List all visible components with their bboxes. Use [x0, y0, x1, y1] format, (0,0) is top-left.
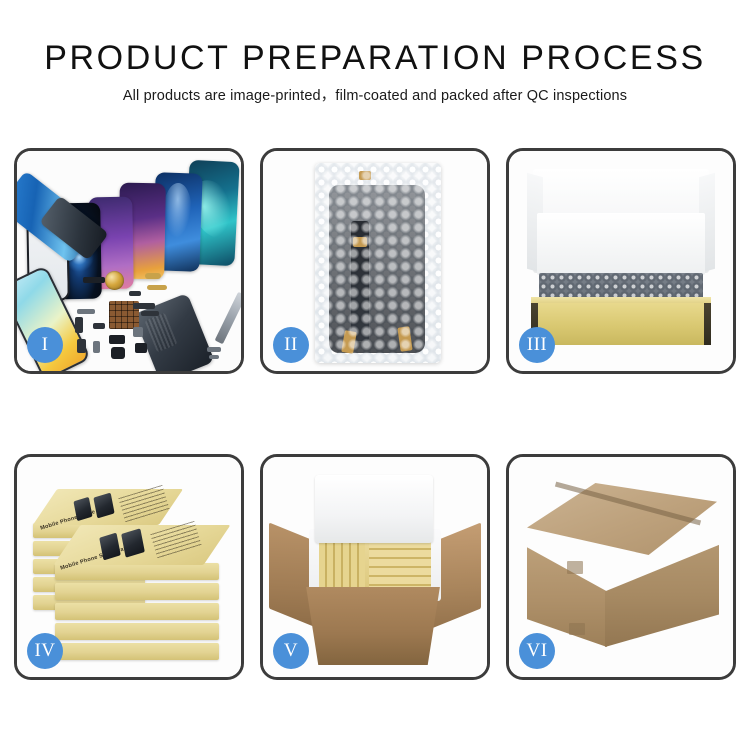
step-badge-vi: VI: [519, 633, 555, 669]
kraft-inner-box: [531, 303, 711, 345]
spare-part: [93, 341, 100, 353]
spare-part: [83, 277, 105, 283]
step-panel-ii: II: [260, 148, 490, 374]
tape-tab: [359, 171, 371, 180]
step-panel-iii: III: [506, 148, 736, 374]
bubble-wrap-bag: [315, 163, 441, 363]
spare-part: [141, 311, 159, 316]
step-panel-vi: VI: [506, 454, 736, 680]
carton-tape-patch: [569, 623, 585, 635]
spare-part: [147, 285, 167, 290]
process-step-grid: I II: [14, 148, 736, 680]
spare-part: [109, 335, 125, 344]
spare-part: [133, 327, 143, 337]
spare-part: [111, 347, 125, 359]
step-badge-i: I: [27, 327, 63, 363]
page-title: PRODUCT PREPARATION PROCESS: [0, 0, 750, 75]
foam-sheet: [537, 213, 705, 275]
stacked-box: [55, 643, 219, 660]
carton-tape-patch: [567, 561, 583, 574]
step-panel-i: I: [14, 148, 244, 374]
stacked-box: [55, 623, 219, 640]
step-panel-v: V: [260, 454, 490, 680]
spare-part: [77, 339, 86, 353]
stacked-box: [55, 583, 219, 600]
step-badge-iv: IV: [27, 633, 63, 669]
step-panel-iv: Mobile Phone Spare Parts Mobile Phone Sp…: [14, 454, 244, 680]
product-preparation-infographic: PRODUCT PREPARATION PROCESS All products…: [0, 0, 750, 750]
packed-yellow-boxes: [319, 541, 431, 589]
spare-part: [209, 355, 219, 359]
copper-coil-part: [105, 271, 124, 290]
spare-part: [93, 323, 105, 329]
spare-part: [133, 303, 155, 309]
foam-cooler-lid: [315, 475, 433, 543]
tape-tab: [353, 237, 367, 247]
spare-part: [135, 343, 147, 353]
carton-body: [297, 587, 449, 665]
carton-left-face: [527, 531, 607, 647]
stacked-box: [55, 603, 219, 620]
spare-part: [77, 309, 95, 314]
spare-part: [129, 291, 141, 296]
step-badge-ii: II: [273, 327, 309, 363]
step-badge-v: V: [273, 633, 309, 669]
spare-part: [145, 273, 161, 279]
step-badge-iii: III: [519, 327, 555, 363]
page-subtitle: All products are image-printed，film-coat…: [0, 75, 750, 104]
wrapped-screen-assembly: [329, 185, 425, 353]
header: PRODUCT PREPARATION PROCESS All products…: [0, 0, 750, 104]
spare-part: [75, 317, 83, 333]
spare-part: [207, 347, 221, 352]
